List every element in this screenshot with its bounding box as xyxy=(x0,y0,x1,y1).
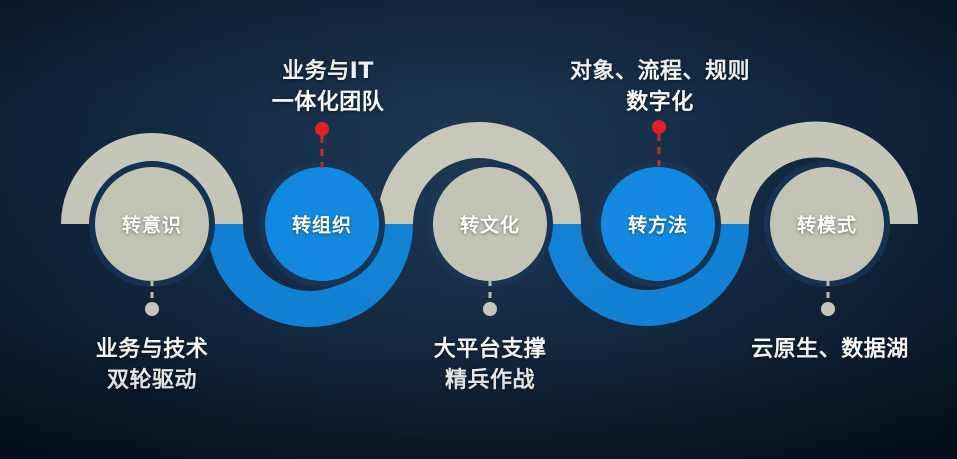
callout-top-n4: 对象、流程、规则 数字化 xyxy=(570,56,750,118)
callout-bottom-n3: 大平台支撑 精兵作战 xyxy=(434,334,547,396)
node-n5[interactable] xyxy=(764,161,890,287)
callout-top-n2-line1: 业务与IT xyxy=(272,56,385,87)
callout-bottom-n3-line2: 精兵作战 xyxy=(434,365,547,396)
callout-top-n4-line2: 数字化 xyxy=(570,87,750,118)
callout-bottom-n5-line1: 云原生、数据湖 xyxy=(751,334,909,365)
callout-bottom-n1-line1: 业务与技术 xyxy=(96,334,209,365)
connector-top-n4 xyxy=(652,120,666,166)
node-n4[interactable] xyxy=(595,161,721,287)
callout-top-n4-line1: 对象、流程、规则 xyxy=(570,56,750,87)
node-n3[interactable] xyxy=(427,161,553,287)
node-n2[interactable] xyxy=(259,161,385,287)
callout-bottom-n5: 云原生、数据湖 xyxy=(751,334,909,365)
callout-bottom-n3-line1: 大平台支撑 xyxy=(434,334,547,365)
diagram-canvas: 转意识 转组织 转文化 转方法 转模式 业务与IT 一体化团队 对象、流程、规则… xyxy=(0,0,957,459)
node-n1[interactable] xyxy=(89,161,215,287)
callout-top-n2-line2: 一体化团队 xyxy=(272,87,385,118)
callout-bottom-n1-line2: 双轮驱动 xyxy=(96,365,209,396)
callout-bottom-n1: 业务与技术 双轮驱动 xyxy=(96,334,209,396)
callout-top-n2: 业务与IT 一体化团队 xyxy=(272,56,385,118)
